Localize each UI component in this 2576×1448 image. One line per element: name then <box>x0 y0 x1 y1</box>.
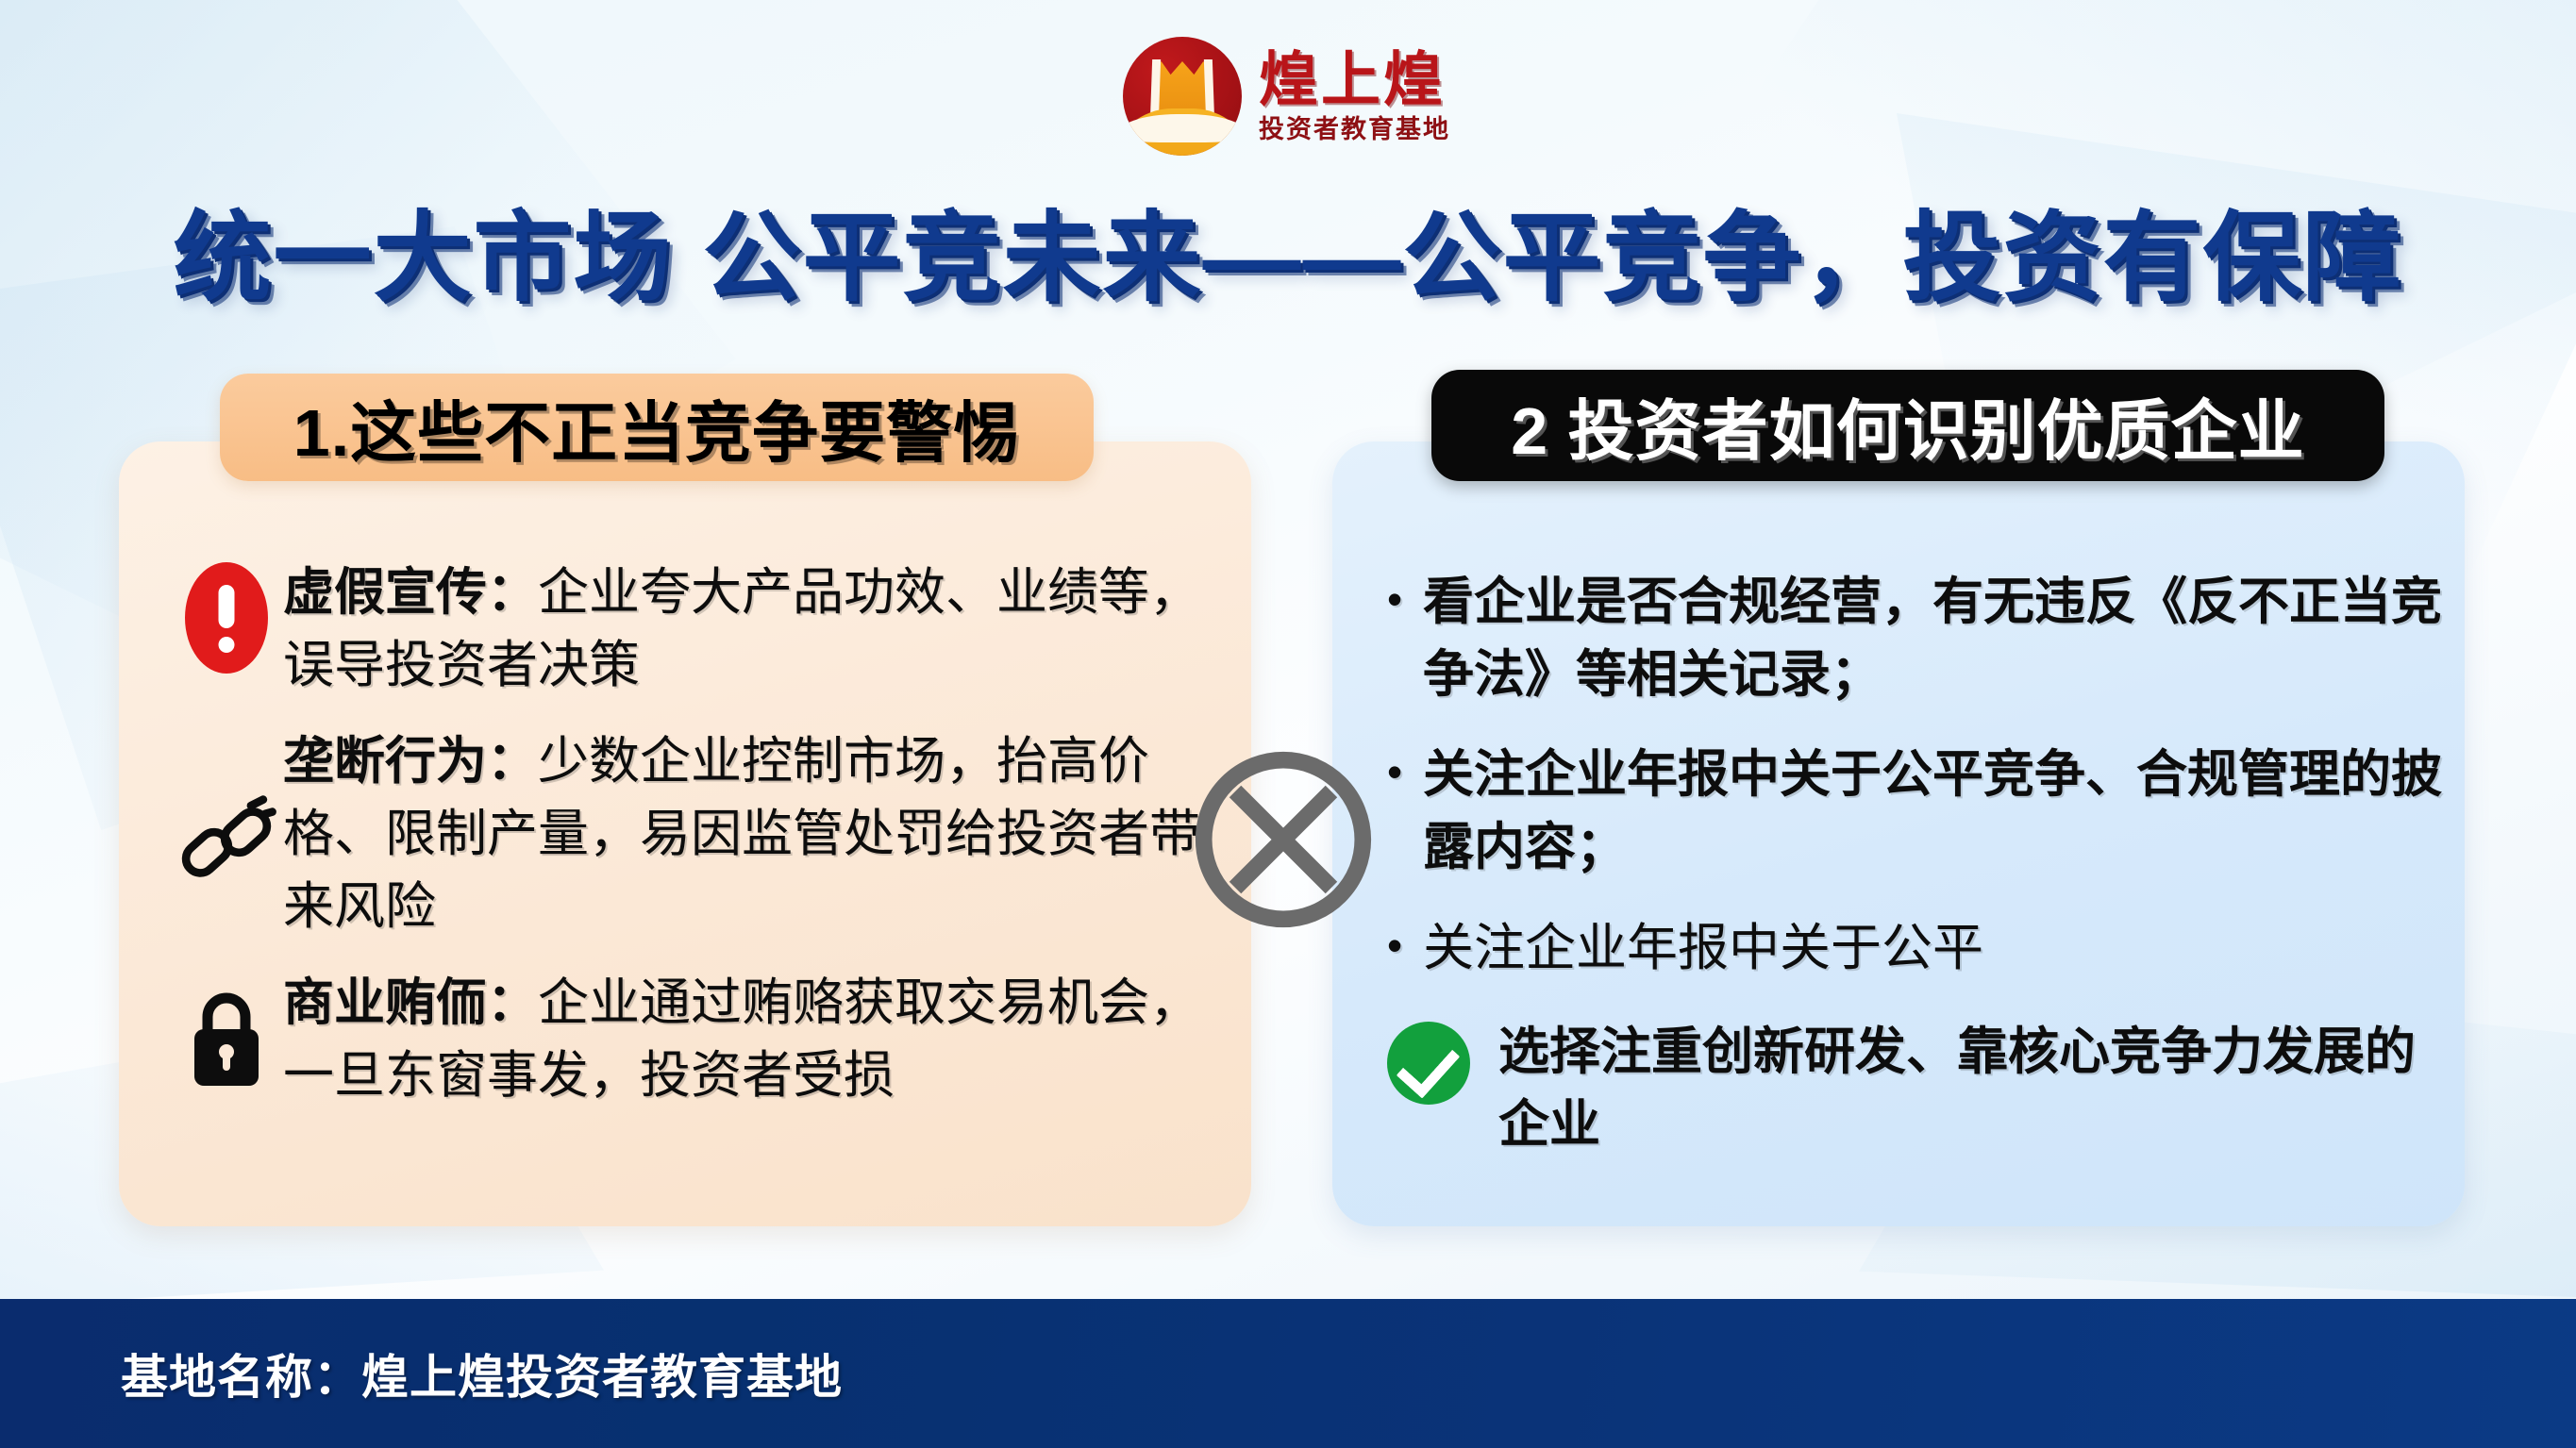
huangshanghuang-crown-logo-icon <box>1123 37 1242 156</box>
bullet-marker: • <box>1387 739 1423 806</box>
exclamation-circle-icon <box>185 562 268 674</box>
list-item-term: 虚假宣传： <box>283 564 538 621</box>
list-item-text: 虚假宣传：企业夸大产品功效、业绩等，误导投资者决策 <box>283 557 1222 701</box>
brand-logo: 煌上煌 投资者教育基地 <box>1123 21 1450 172</box>
footer-text: 基地名称：煌上煌投资者教育基地 <box>121 1340 843 1407</box>
lock-icon <box>183 986 270 1091</box>
brand-subtitle: 投资者教育基地 <box>1259 117 1450 142</box>
list-item-term: 商业贿侕： <box>283 974 538 1031</box>
bullet-marker: • <box>1387 912 1423 979</box>
right-panel-header: 2 投资者如何识别优质企业 <box>1431 370 2384 481</box>
left-panel-header: 1.这些不正当竞争要警惕 <box>220 374 1094 481</box>
check-circle-icon <box>1387 1022 1470 1105</box>
brand-name: 煌上煌 <box>1259 51 1450 110</box>
page-title: 统一大市场 公平竞未来——公平竞争，投资有保障 <box>0 177 2576 320</box>
list-item: 垄断行为：少数企业控制市场，抬高价格、限制产量，易因监管处罚给投资者带来风险 <box>170 725 1222 942</box>
list-item-text: 关注企业年报中关于公平竞争、合规管理的披露内容； <box>1423 739 2444 883</box>
highlight-item: 选择注重创新研发、靠核心竞争力发展的企业 <box>1387 1016 2444 1160</box>
right-panel-list: • 看企业是否合规经营，有无违反《反不正当竞争法》等相关记录； • 关注企业年报… <box>1387 566 2444 1161</box>
list-item-text: 看企业是否合规经营，有无违反《反不正当竞争法》等相关记录； <box>1423 566 2444 710</box>
chain-link-icon <box>176 791 277 893</box>
list-item: • 看企业是否合规经营，有无违反《反不正当竞争法》等相关记录； <box>1387 566 2444 710</box>
footer-bar: 基地名称：煌上煌投资者教育基地 <box>0 1299 2576 1448</box>
list-item-text: 垄断行为：少数企业控制市场，抬高价格、限制产量，易因监管处罚给投资者带来风险 <box>283 725 1222 942</box>
slide-canvas: 煌上煌 投资者教育基地 统一大市场 公平竞未来——公平竞争，投资有保障 1.这些… <box>0 0 2576 1448</box>
list-item-text: 商业贿侕：企业通过贿赂获取交易机会，一旦东窗事发，投资者受损 <box>283 967 1222 1111</box>
highlight-item-text: 选择注重创新研发、靠核心竞争力发展的企业 <box>1498 1016 2444 1160</box>
list-item: 商业贿侕：企业通过贿赂获取交易机会，一旦东窗事发，投资者受损 <box>170 967 1222 1111</box>
list-item: • 关注企业年报中关于公平竞争、合规管理的披露内容； <box>1387 739 2444 883</box>
list-item-term: 垄断行为： <box>283 733 538 790</box>
list-item: • 关注企业年报中关于公平 <box>1387 912 2444 985</box>
bullet-marker: • <box>1387 566 1423 633</box>
list-item: 虚假宣传：企业夸大产品功效、业绩等，误导投资者决策 <box>170 557 1222 701</box>
circle-x-icon <box>1191 747 1376 932</box>
list-item-text: 关注企业年报中关于公平 <box>1423 912 2444 985</box>
left-panel-list: 虚假宣传：企业夸大产品功效、业绩等，误导投资者决策 垄断行为：少数企业控制市场，… <box>170 557 1222 1137</box>
